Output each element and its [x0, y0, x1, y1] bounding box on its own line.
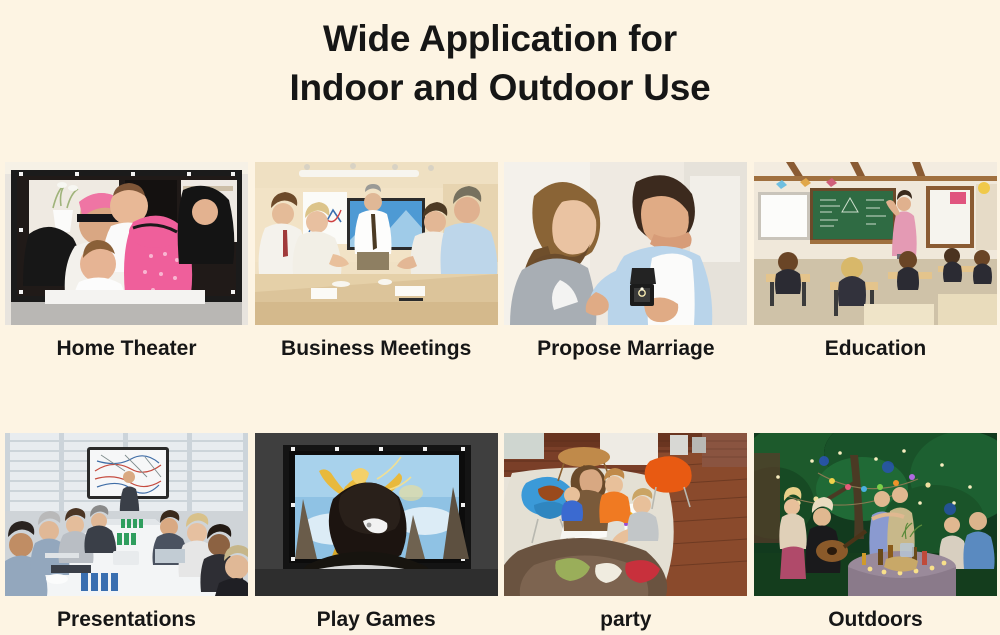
- gallery-cell-presentations[interactable]: Presentations: [5, 433, 248, 635]
- gallery-cell-party[interactable]: party: [504, 433, 747, 635]
- photo-classroom-blackboard: [754, 162, 997, 325]
- gallery-cell-outdoors[interactable]: Outdoors: [754, 433, 997, 635]
- photo-boardroom-large-table: [5, 433, 248, 596]
- photo-gamer-projection-screen: [255, 433, 498, 596]
- photo-couple-ring-proposal: [504, 162, 747, 325]
- page-title-line-1: Wide Application for: [0, 14, 1000, 63]
- photo-living-room-kids-overhead: [504, 433, 747, 596]
- gallery-caption: party: [504, 596, 747, 635]
- gallery-cell-education[interactable]: Education: [754, 162, 997, 364]
- gallery-caption: Play Games: [255, 596, 498, 635]
- photo-conference-room-presenter: [255, 162, 498, 325]
- gallery-caption: Propose Marriage: [504, 325, 747, 364]
- page-title: Wide Application for Indoor and Outdoor …: [0, 14, 1000, 112]
- gallery-cell-home-theater[interactable]: Home Theater: [5, 162, 248, 364]
- gallery-caption: Business Meetings: [255, 325, 498, 364]
- page-title-line-2: Indoor and Outdoor Use: [0, 63, 1000, 112]
- gallery-caption: Outdoors: [754, 596, 997, 635]
- gallery-cell-business-meetings[interactable]: Business Meetings: [255, 162, 498, 364]
- gallery-caption: Education: [754, 325, 997, 364]
- gallery-caption: Home Theater: [5, 325, 248, 364]
- gallery-row: Presentations: [5, 433, 997, 635]
- gallery-cell-propose-marriage[interactable]: Propose Marriage: [504, 162, 747, 364]
- gallery-cell-play-games[interactable]: Play Games: [255, 433, 498, 635]
- photo-backyard-night-string-lights: [754, 433, 997, 596]
- gallery-caption: Presentations: [5, 596, 248, 635]
- application-gallery: Home Theater: [5, 162, 997, 635]
- gallery-row: Home Theater: [5, 162, 997, 364]
- photo-family-projector-screen: [5, 162, 248, 325]
